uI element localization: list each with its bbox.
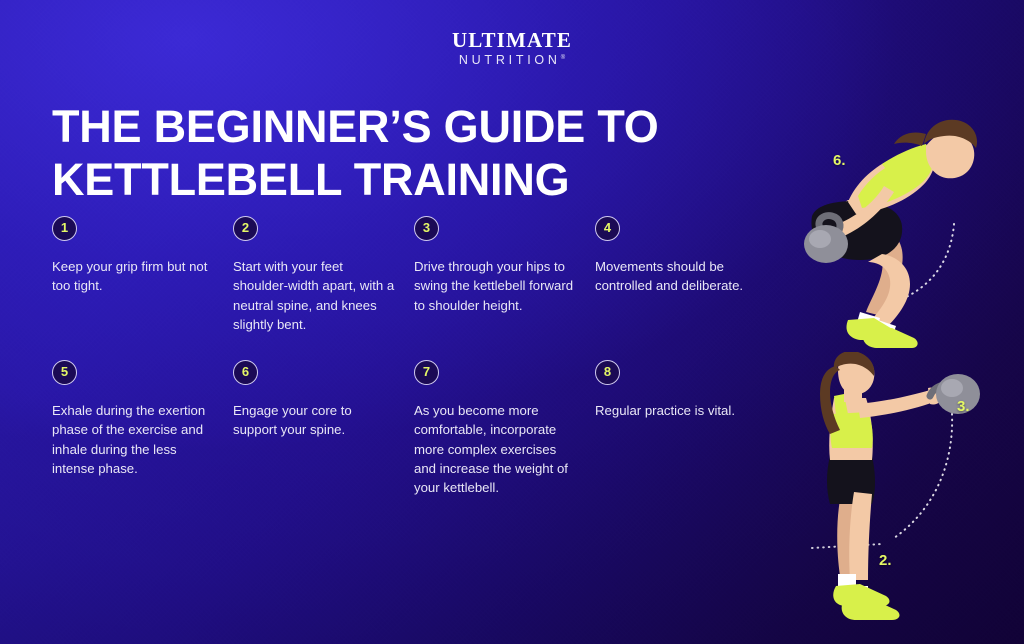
near-leg-shape	[849, 492, 872, 580]
brand-logo-bottom: NUTRITION®	[0, 54, 1024, 67]
step-item-2: 2 Start with your feet shoulder-width ap…	[233, 216, 414, 334]
step-item-8: 8 Regular practice is vital.	[595, 360, 776, 420]
page-title-line-1: THE BEGINNER’S GUIDE TO	[52, 100, 672, 153]
registered-mark-icon: ®	[561, 55, 565, 61]
swing-trajectory-dotted-arc-bottom	[894, 414, 952, 538]
step-text-8: Regular practice is vital.	[595, 401, 758, 420]
step-text-6: Engage your core to support your spine.	[233, 401, 396, 440]
step-item-4: 4 Movements should be controlled and del…	[595, 216, 776, 296]
step-number-badge-4: 4	[595, 216, 620, 241]
kettlebell-highlight-bottom	[941, 379, 963, 397]
infographic-poster: ULTIMATE NUTRITION® THE BEGINNER’S GUIDE…	[0, 0, 1024, 644]
step-item-7: 7 As you become more comfortable, incorp…	[414, 360, 595, 497]
step-item-3: 3 Drive through your hips to swing the k…	[414, 216, 595, 315]
step-text-2: Start with your feet shoulder-width apar…	[233, 257, 396, 334]
steps-grid: 1 Keep your grip firm but not too tight.…	[52, 216, 780, 498]
step-number-badge-3: 3	[414, 216, 439, 241]
step-number-badge-1: 1	[52, 216, 77, 241]
shoe-shape-front	[863, 328, 918, 348]
steps-row-bottom: 5 Exhale during the exertion phase of th…	[52, 360, 780, 497]
step-number-badge-7: 7	[414, 360, 439, 385]
page-title: THE BEGINNER’S GUIDE TO KETTLEBELL TRAIN…	[52, 100, 672, 206]
brand-logo: ULTIMATE NUTRITION®	[0, 30, 1024, 67]
shoe-shape-front	[842, 598, 900, 620]
step-item-1: 1 Keep your grip firm but not too tight.	[52, 216, 233, 296]
step-text-4: Movements should be controlled and delib…	[595, 257, 758, 296]
illustration-callout-3: 3.	[957, 398, 970, 415]
page-title-line-2: KETTLEBELL TRAINING	[52, 153, 672, 206]
step-text-5: Exhale during the exertion phase of the …	[52, 401, 215, 478]
brand-logo-bottom-text: NUTRITION	[459, 53, 561, 67]
step-number-badge-5: 5	[52, 360, 77, 385]
illustration-callout-2: 2.	[879, 552, 892, 569]
step-item-5: 5 Exhale during the exertion phase of th…	[52, 360, 233, 478]
step-number-badge-8: 8	[595, 360, 620, 385]
step-item-6: 6 Engage your core to support your spine…	[233, 360, 414, 440]
step-text-7: As you become more comfortable, incorpor…	[414, 401, 577, 497]
step-text-3: Drive through your hips to swing the ket…	[414, 257, 577, 315]
kettlebell-highlight-top	[809, 230, 831, 248]
step-number-badge-6: 6	[233, 360, 258, 385]
illustration-kettlebell-standing	[786, 352, 1024, 644]
step-text-1: Keep your grip firm but not too tight.	[52, 257, 215, 296]
arm-shape	[858, 390, 934, 418]
steps-row-top: 1 Keep your grip firm but not too tight.…	[52, 216, 780, 334]
illustration-kettlebell-hinge	[786, 104, 1024, 354]
step-number-badge-2: 2	[233, 216, 258, 241]
ponytail-shape	[894, 132, 926, 146]
brand-logo-top: ULTIMATE	[0, 30, 1024, 51]
illustration-callout-6: 6.	[833, 152, 846, 169]
